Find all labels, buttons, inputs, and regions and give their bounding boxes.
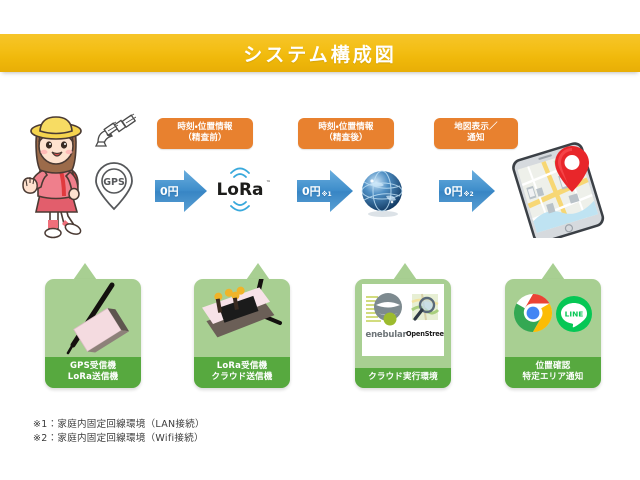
arrow-cloud-to-phone: 0円※2 [438, 168, 496, 214]
app-logos-panel: LINE [511, 291, 595, 347]
badge-line1: 地図表示／ [454, 122, 498, 132]
node-lora-receiver: LoRa受信機 クラウド送信機 [194, 263, 290, 388]
gps-device-photo [49, 281, 137, 359]
badge-time-location-after: 時刻・位置情報 （精査後） [298, 118, 394, 149]
openstreetmap-logo [410, 292, 440, 326]
lora-gateway-photo [194, 279, 290, 357]
caption-line1: 位置確認 [536, 361, 571, 371]
callout-caption: 位置確認 特定エリア通知 [505, 357, 601, 388]
smartphone-map-illustration [505, 140, 617, 238]
gps-pin-icon: GPS [93, 160, 135, 212]
badge-line2: （精査後） [304, 133, 388, 144]
gps-label: GPS [103, 177, 125, 188]
caption-line2: 特定エリア通知 [505, 372, 601, 383]
badge-time-location-before: 時刻・位置情報 （精査前） [157, 118, 253, 149]
footnotes: ※1：家庭内固定回線環境（LAN接続） ※2：家庭内固定回線環境（Wifi接続） [33, 418, 205, 446]
node-position-check: LINE 位置確認 特定エリア通知 [505, 263, 601, 388]
callout-bubble: enebular OpenStreetMap クラウド実行環 [355, 279, 451, 388]
title-bar: システム構成図 [0, 34, 640, 72]
footnote-2: ※2：家庭内固定回線環境（Wifi接続） [33, 432, 205, 446]
badge-line2: 通知 [440, 133, 512, 144]
enebular-label: enebular [362, 330, 410, 340]
callout-caption: クラウド実行環境 [355, 368, 451, 388]
satellite-icon [92, 112, 136, 156]
badge-line1: 時刻・位置情報 [318, 122, 373, 132]
caption-line1: LoRa受信機 [217, 361, 267, 371]
node-gps-receiver: GPS受信機 LoRa送信機 [45, 263, 141, 388]
callout-bubble: GPS受信機 LoRa送信機 [45, 279, 141, 388]
slide-root: システム構成図 [0, 0, 640, 480]
page-title: システム構成図 [243, 40, 396, 67]
enebular-logo [364, 287, 408, 333]
chrome-icon [513, 293, 553, 333]
caption-line2: クラウド送信機 [194, 372, 290, 383]
caption-line2: LoRa送信機 [45, 372, 141, 383]
badge-line2: （精査前） [163, 133, 247, 144]
svg-text:™: ™ [266, 180, 271, 186]
arrow-lora-to-cloud: 0円※1 [296, 168, 354, 214]
caption-line1: クラウド実行環境 [368, 372, 438, 382]
line-wordmark: LINE [565, 310, 584, 319]
callout-bubble: LINE 位置確認 特定エリア通知 [505, 279, 601, 388]
openstreetmap-label: OpenStreetMap [406, 330, 444, 338]
arrow-gps-to-lora: 0円 [154, 168, 208, 214]
badge-line1: 時刻・位置情報 [177, 122, 232, 132]
lora-logo: LoRa ™ [208, 166, 272, 212]
callout-bubble: LoRa受信機 クラウド送信機 [194, 279, 290, 388]
caption-line1: GPS受信機 [70, 361, 116, 371]
lora-wordmark: LoRa [216, 180, 263, 200]
callout-caption: LoRa受信機 クラウド送信機 [194, 357, 290, 388]
line-app-icon: LINE [555, 295, 593, 333]
child-character-illustration [20, 112, 92, 240]
cloud-logos-panel: enebular OpenStreetMap [362, 284, 444, 356]
internet-globe-icon [358, 168, 408, 218]
callout-caption: GPS受信機 LoRa送信機 [45, 357, 141, 388]
footnote-1: ※1：家庭内固定回線環境（LAN接続） [33, 418, 205, 432]
node-cloud-runtime: enebular OpenStreetMap クラウド実行環 [355, 263, 451, 388]
